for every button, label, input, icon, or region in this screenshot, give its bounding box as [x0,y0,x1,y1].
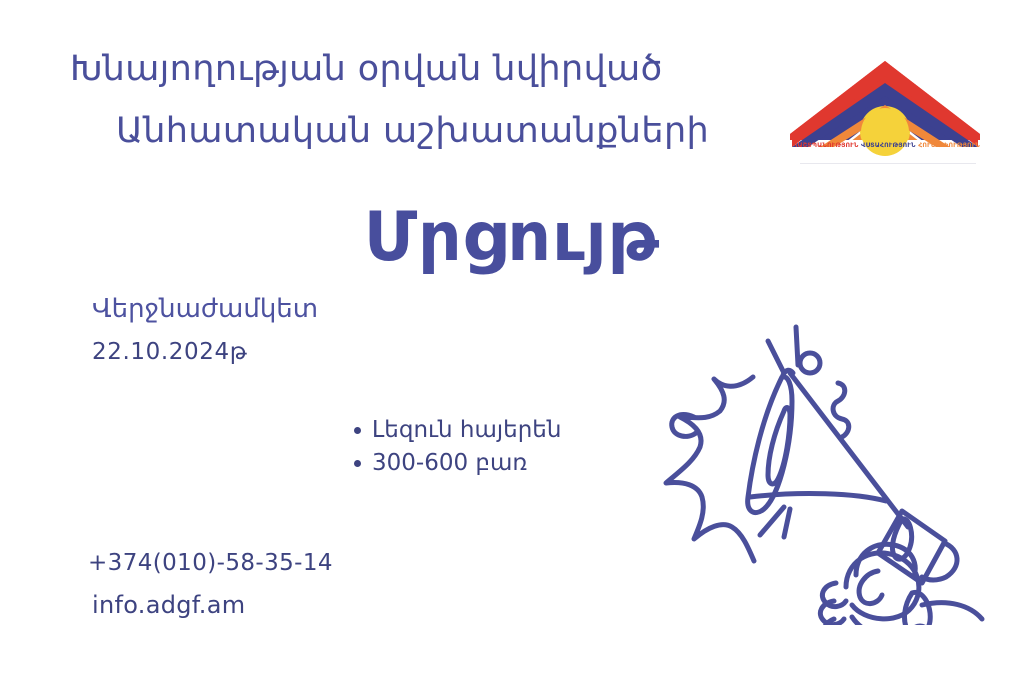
page-title: Մրցույթ [0,198,1024,277]
hand-thumb [859,571,882,604]
logo-tagline: ՊԱՇՏՊԱՆՈՒԹՅՈՒՆ ՎՍՏԱՀՈՒԹՅՈՒՆ ՀՈՒՍԱԼԻՈՒԹՅՈ… [792,142,980,149]
list-item: Լեզուն հայերեն [372,414,561,447]
megaphone-illustration [650,305,990,625]
headline-line-2: Անհատական աշխատանքների [116,110,709,154]
logo-tagline-word-2: ՎՍՏԱՀՈՒԹՅՈՒՆ [861,142,916,149]
hand-knuckle-main [846,553,919,619]
logo-tagline-word-1: ՊԱՇՏՊԱՆՈՒԹՅՈՒՆ [792,142,858,149]
logo-tagline-word-3: ՀՈՒՍԱԼԻՈՒԹՅՈՒՆ [918,142,980,149]
megaphone-bell-inner [768,408,790,484]
adgf-logo [790,58,980,168]
list-item: 300-600 բառ [372,447,561,480]
megaphone-top-edge [790,373,908,527]
logo-divider [800,163,976,164]
headline-line-1: Խնայողության օրվան նվիրված [70,48,663,92]
poster-canvas: Խնայողության օրվան նվիրված Անհատական աշխ… [0,0,1024,680]
contact-phone[interactable]: +374(010)-58-35-14 [88,550,333,576]
contact-website[interactable]: info.adgf.am [92,591,245,619]
motion-line-bottom-2 [784,509,790,537]
deadline-date: 22.10.2024թ [92,339,247,365]
deadline-label: Վերջնաժամկետ [92,294,318,324]
requirements-list: Լեզուն հայերեն 300-600 բառ [348,414,561,480]
burst-stroke [666,377,754,561]
motion-line-top-2 [796,327,798,365]
motion-line-top-1 [768,341,784,373]
motion-dot-top [800,353,820,373]
